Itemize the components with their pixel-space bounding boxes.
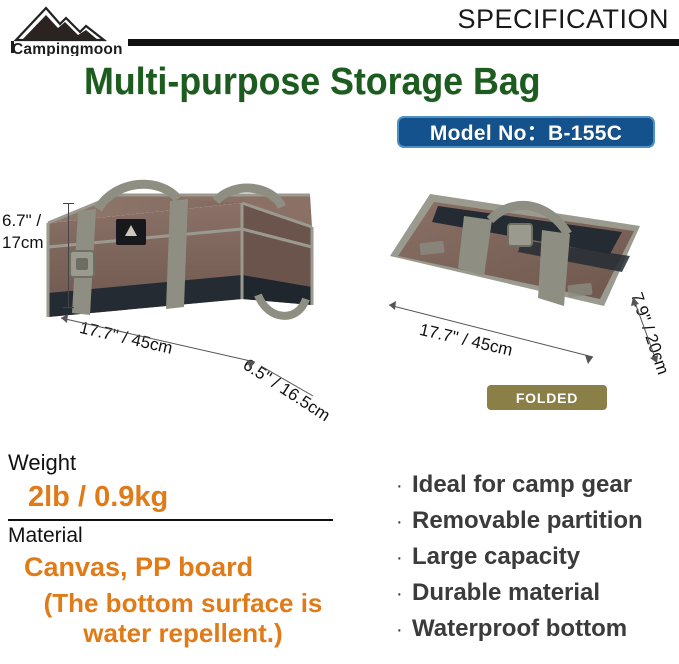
dimension-height-arrow	[68, 203, 69, 308]
dimension-guides-folded	[385, 295, 665, 385]
material-label: Material	[8, 524, 83, 548]
material-value: Canvas, PP board	[24, 552, 364, 583]
feature-list: · Ideal for camp gear · Removable partit…	[396, 470, 679, 650]
mountain-icon: Campingmoon	[8, 4, 128, 56]
weight-value: 2lb / 0.9kg	[28, 481, 168, 514]
dimension-label-height-unfolded: 6.7" / 17cm	[2, 210, 66, 254]
list-item: · Ideal for camp gear	[396, 470, 679, 500]
model-number-badge: Model No：B-155C	[397, 116, 655, 148]
dimension-height-tick-top	[63, 203, 74, 204]
feature-label: Ideal for camp gear	[412, 470, 632, 500]
list-item: · Waterproof bottom	[396, 614, 679, 644]
list-item: · Durable material	[396, 578, 679, 608]
specification-heading: SPECIFICATION	[457, 6, 669, 33]
feature-label: Durable material	[412, 578, 600, 608]
material-note: (The bottom surface is water repellent.)	[8, 588, 358, 648]
bullet-icon: ·	[396, 615, 412, 645]
brand-logo: Campingmoon	[8, 4, 128, 56]
list-item: · Removable partition	[396, 506, 679, 536]
feature-label: Waterproof bottom	[412, 614, 627, 644]
dimension-height-line1: 6.7" /	[2, 210, 66, 232]
brand-wordmark: Campingmoon	[11, 41, 123, 56]
feature-label: Removable partition	[412, 506, 643, 536]
brand-name-text: Campingmoon	[12, 41, 123, 56]
page-title: Multi-purpose Storage Bag	[84, 60, 592, 104]
feature-label: Large capacity	[412, 542, 580, 572]
dimension-guides-unfolded	[55, 300, 325, 400]
bullet-icon: ·	[396, 471, 412, 501]
bullet-icon: ·	[396, 507, 412, 537]
list-item: · Large capacity	[396, 542, 679, 572]
weight-label: Weight	[8, 450, 76, 476]
folded-state-badge: FOLDED	[487, 385, 607, 410]
header-divider-bar	[128, 39, 679, 46]
dimension-height-line2: 17cm	[2, 232, 66, 254]
spec-divider	[8, 519, 333, 521]
bullet-icon: ·	[396, 579, 412, 609]
bullet-icon: ·	[396, 543, 412, 573]
